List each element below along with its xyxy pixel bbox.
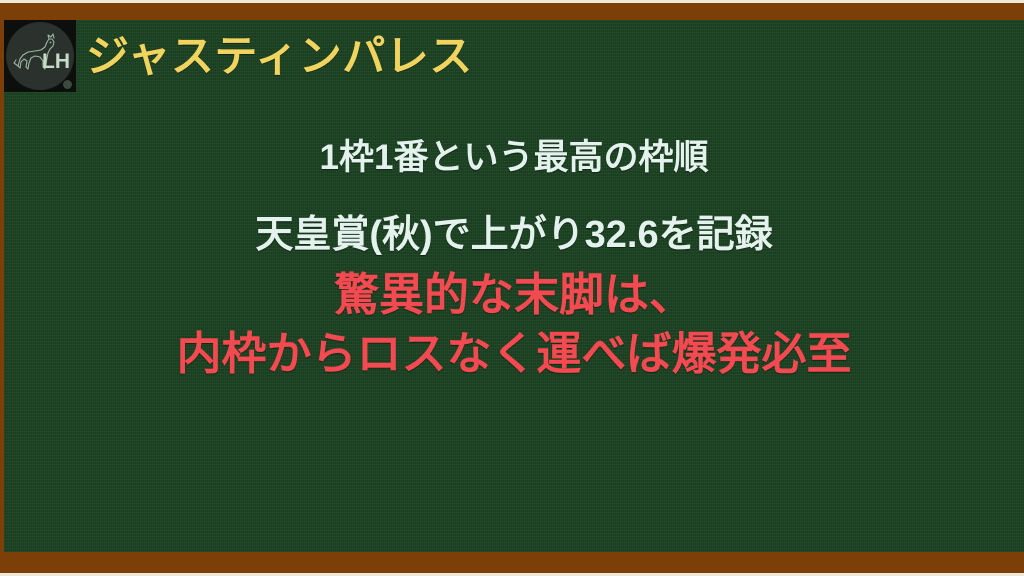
bottom-frame-band	[0, 552, 1024, 573]
logo-corner-mark	[63, 80, 72, 89]
page-title: ジャスティンパレス	[86, 36, 473, 79]
top-frame-band	[0, 3, 1024, 20]
slide-canvas: LH ジャスティンパレス 1枠1番という最高の枠順 天皇賞(秋)で上がり32.6…	[0, 0, 1024, 576]
lh-horse-logo: LH	[4, 20, 76, 92]
body-line-2: 天皇賞(秋)で上がり32.6を記録	[4, 216, 1024, 254]
body-line-1: 1枠1番という最高の枠順	[4, 140, 1024, 175]
logo-monogram: LH	[42, 50, 70, 73]
body-line-3: 驚異的な末脚は、	[4, 272, 1024, 317]
body-line-4: 内枠からロスなく運べば爆発必至	[4, 331, 1024, 376]
body-text-block: 1枠1番という最高の枠順 天皇賞(秋)で上がり32.6を記録 驚異的な末脚は、 …	[4, 140, 1024, 376]
